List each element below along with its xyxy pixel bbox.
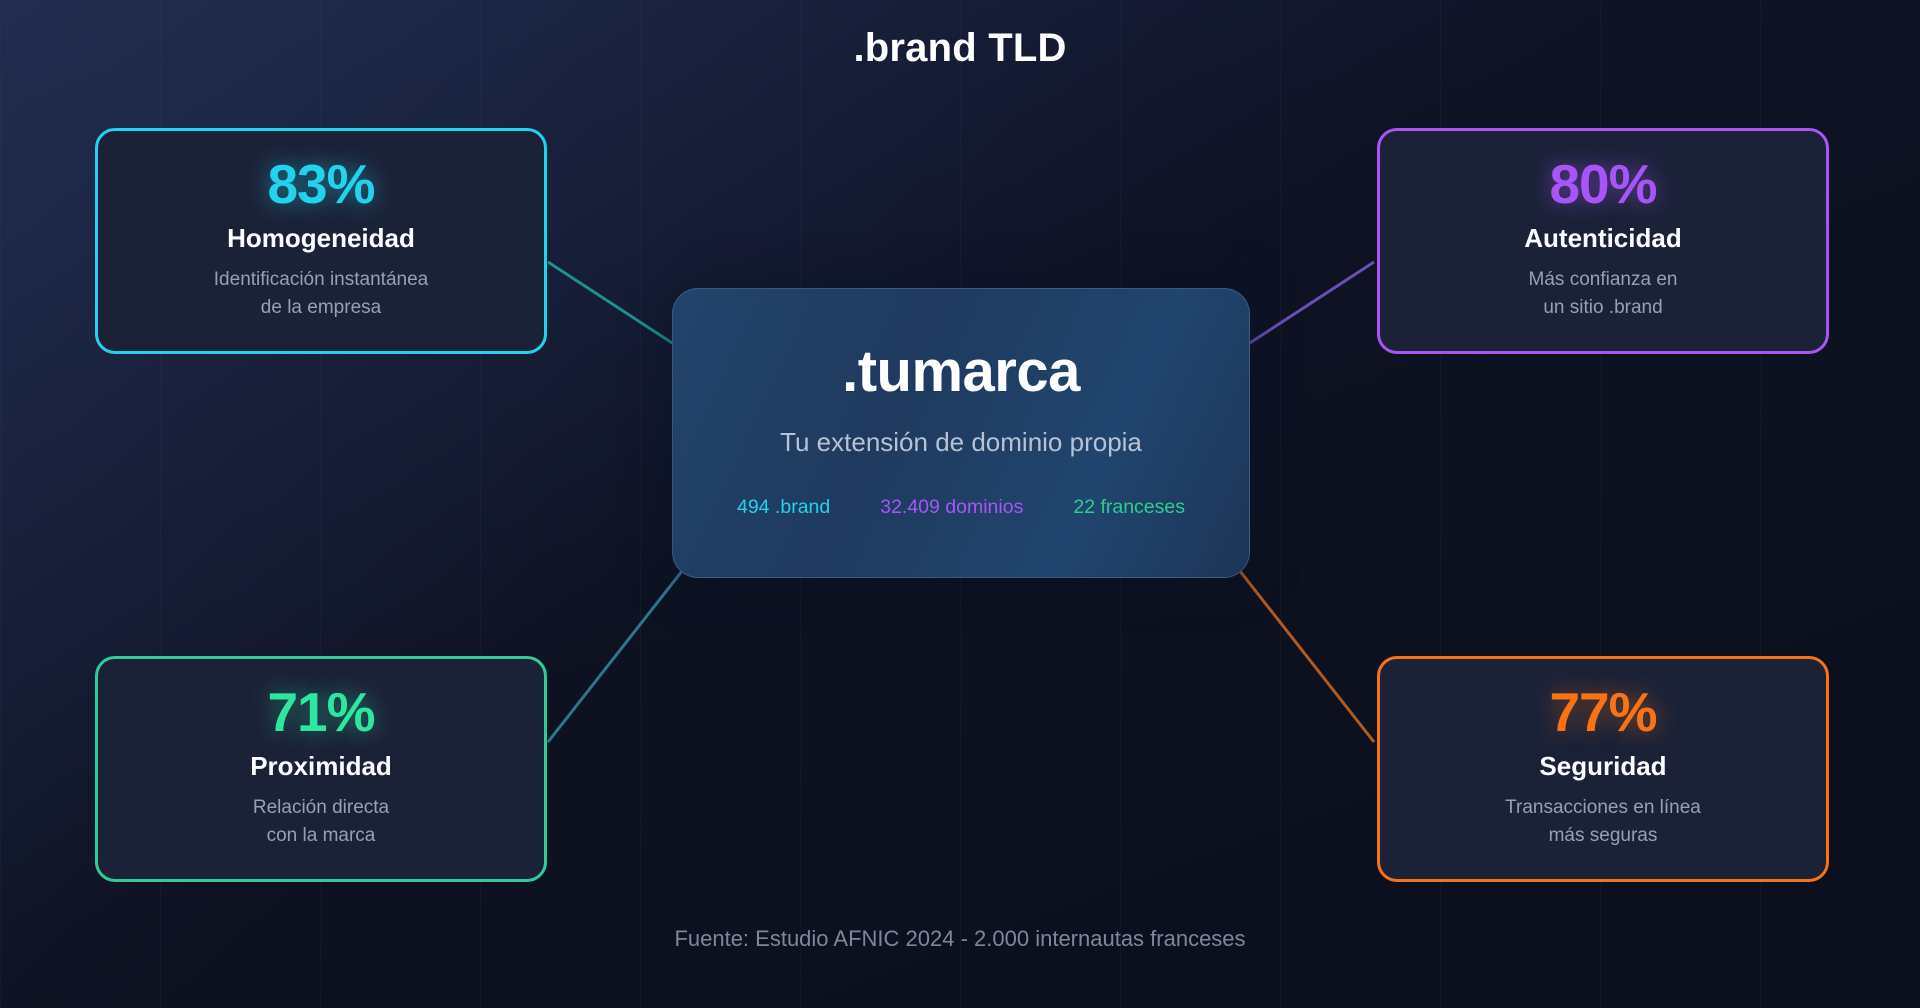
center-hub-card[interactable]: .tumarca Tu extensión de dominio propia …	[672, 288, 1250, 578]
stat-description-line2: más seguras	[1549, 825, 1658, 846]
stat-card-autenticidad[interactable]: 80% Autenticidad Más confianza en un sit…	[1377, 128, 1829, 354]
connector-bottom-right	[1236, 566, 1374, 742]
stat-description-line1: Transacciones en línea	[1505, 797, 1701, 818]
infographic-canvas: .brand TLD 83% Homogeneidad Identificaci…	[0, 0, 1920, 1008]
hub-stat-brand: 494 .brand	[737, 496, 830, 519]
hub-domain-name: .tumarca	[842, 343, 1080, 401]
hub-stats-row: 494 .brand 32.409 dominios 22 franceses	[737, 496, 1185, 519]
stat-description: Más confianza en un sitio .brand	[1529, 266, 1678, 322]
hub-stat-french: 22 franceses	[1073, 496, 1185, 519]
stat-description-line1: Más confianza en	[1529, 269, 1678, 290]
stat-description-line1: Relación directa	[253, 797, 389, 818]
page-title: .brand TLD	[0, 26, 1920, 71]
stat-label: Homogeneidad	[227, 224, 415, 253]
stat-card-seguridad[interactable]: 77% Seguridad Transacciones en línea más…	[1377, 656, 1829, 882]
stat-description: Transacciones en línea más seguras	[1505, 794, 1701, 850]
connector-bottom-left	[548, 566, 686, 742]
stat-percent: 80%	[1549, 156, 1656, 212]
source-footnote: Fuente: Estudio AFNIC 2024 - 2.000 inter…	[0, 926, 1920, 952]
stat-percent: 77%	[1549, 684, 1656, 740]
stat-label: Autenticidad	[1524, 224, 1681, 253]
stat-label: Proximidad	[250, 752, 392, 781]
stat-description-line2: un sitio .brand	[1543, 297, 1662, 318]
stat-description-line2: con la marca	[267, 825, 376, 846]
stat-description: Identificación instantánea de la empresa	[214, 266, 428, 322]
stat-percent: 71%	[267, 684, 374, 740]
connector-top-left	[548, 262, 686, 352]
stat-description: Relación directa con la marca	[253, 794, 389, 850]
hub-stat-domains: 32.409 dominios	[880, 496, 1023, 519]
stat-percent: 83%	[267, 156, 374, 212]
stat-description-line1: Identificación instantánea	[214, 269, 428, 290]
stat-description-line2: de la empresa	[261, 297, 381, 318]
stat-card-homogeneidad[interactable]: 83% Homogeneidad Identificación instantá…	[95, 128, 547, 354]
hub-subtitle: Tu extensión de dominio propia	[780, 427, 1142, 458]
connector-top-right	[1236, 262, 1374, 352]
stat-label: Seguridad	[1539, 752, 1666, 781]
stat-card-proximidad[interactable]: 71% Proximidad Relación directa con la m…	[95, 656, 547, 882]
